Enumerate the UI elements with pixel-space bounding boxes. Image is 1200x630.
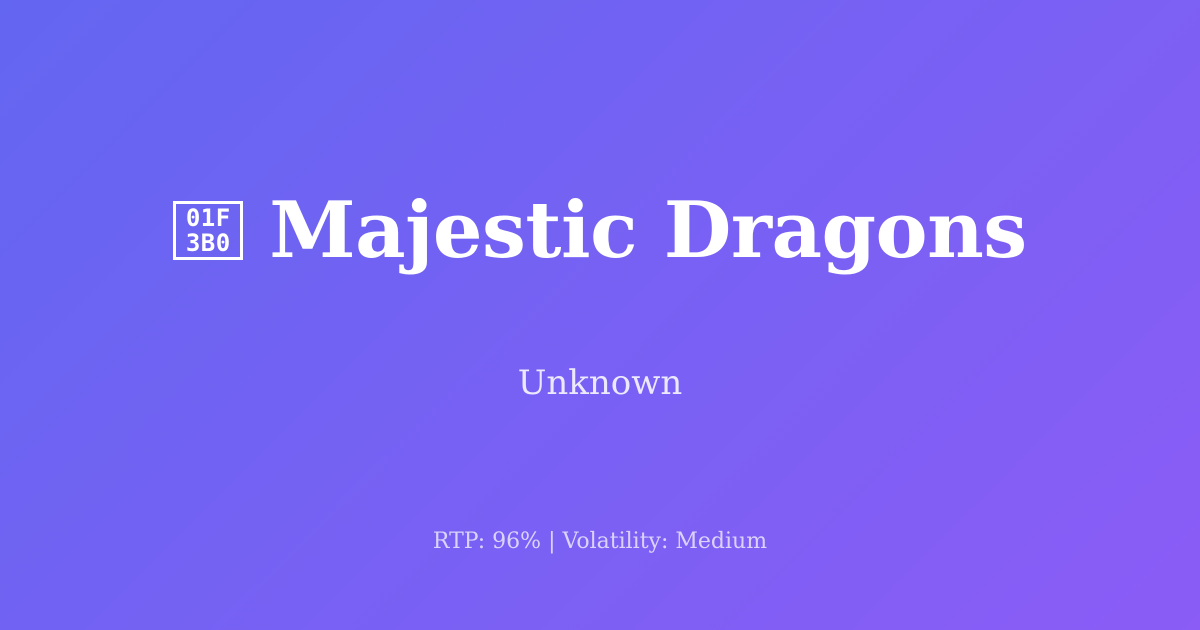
game-stats-meta: RTP: 96% | Volatility: Medium — [0, 528, 1200, 557]
title-line: 01F 3B0 Majestic Dragons — [173, 190, 1026, 272]
tofu-codepoint-row-bottom: 3B0 — [186, 231, 231, 256]
title-block: 01F 3B0 Majestic Dragons — [0, 0, 1200, 518]
page-title: Majestic Dragons — [269, 190, 1026, 272]
game-share-card: 01F 3B0 Majestic Dragons Unknown RTP: 96… — [0, 0, 1200, 630]
tofu-codepoint-row-top: 01F — [186, 206, 231, 231]
slot-machine-emoji-icon: 01F 3B0 — [173, 201, 243, 260]
game-provider-subtitle: Unknown — [0, 363, 1200, 404]
